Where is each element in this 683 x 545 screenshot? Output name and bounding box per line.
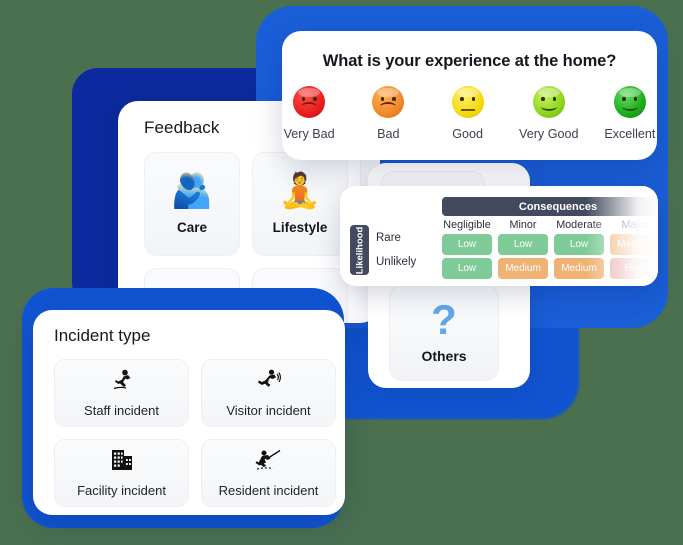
risk-matrix-cell[interactable]: Medium [498, 258, 548, 279]
incident-type-card: Incident type Staff incident [33, 310, 345, 515]
risk-matrix-cell[interactable]: Medium [554, 258, 604, 279]
others-tile-label: Others [421, 348, 466, 364]
incident-tile-staff[interactable]: Staff incident [54, 359, 189, 427]
experience-option-good[interactable]: Good [441, 86, 495, 141]
consequences-label: Consequences [519, 201, 597, 213]
person-falling-stick-icon [255, 449, 283, 475]
incident-type-grid: Staff incident Visitor incident [33, 346, 345, 507]
incident-tile-resident[interactable]: Resident incident [201, 439, 336, 507]
risk-matrix-col-header: Negligible [442, 219, 492, 231]
happy-face-icon [614, 86, 646, 118]
risk-matrix-cell[interactable]: Low [554, 234, 604, 255]
person-falling-icon [110, 369, 134, 395]
experience-survey-card: What is your experience at the home? Ver… [282, 31, 657, 160]
risk-matrix-cell[interactable]: Medium [610, 234, 658, 255]
risk-matrix-row-labels: Rare Unlikely [376, 226, 416, 274]
risk-matrix-card: Consequences Likelihood Negligible Minor… [340, 186, 658, 286]
feedback-tile-label: Care [177, 220, 207, 235]
incident-tile-label: Resident incident [219, 483, 319, 498]
sad-face-icon [372, 86, 404, 118]
risk-matrix-cell[interactable]: Low [442, 234, 492, 255]
experience-option-very-good[interactable]: Very Good [520, 86, 578, 141]
risk-matrix-col-header: Moderate [554, 219, 604, 231]
office-building-icon [110, 449, 134, 475]
feedback-tile-label: Lifestyle [273, 220, 328, 235]
risk-matrix-cell[interactable]: Low [442, 258, 492, 279]
experience-option-excellent[interactable]: Excellent [603, 86, 657, 141]
composition-stage: Feedback 🫂 Care 🧘 Lifestyle 🧹 🏢 👩 [0, 0, 683, 545]
incident-tile-label: Staff incident [84, 403, 159, 418]
person-slipping-icon [256, 369, 282, 395]
incident-type-title: Incident type [33, 310, 345, 346]
meditation-icon: 🧘 [279, 174, 321, 208]
smiling-face-icon [533, 86, 565, 118]
frowning-face-icon [293, 86, 325, 118]
incident-tile-facility[interactable]: Facility incident [54, 439, 189, 507]
experience-option-label: Good [452, 127, 483, 141]
neutral-face-icon [452, 86, 484, 118]
risk-matrix-row-label: Unlikely [376, 250, 416, 274]
others-tile[interactable]: ? Others [389, 285, 499, 381]
incident-tile-visitor[interactable]: Visitor incident [201, 359, 336, 427]
risk-matrix-cell[interactable]: High [610, 258, 658, 279]
risk-matrix-likelihood-header: Likelihood [350, 225, 369, 275]
experience-options-row: Very Bad Bad Good [282, 71, 657, 141]
risk-matrix-col-header: Major [610, 219, 658, 231]
likelihood-label: Likelihood [354, 226, 365, 274]
incident-tile-label: Facility incident [77, 483, 166, 498]
feedback-tile-lifestyle[interactable]: 🧘 Lifestyle [252, 152, 348, 256]
experience-option-label: Very Bad [284, 127, 335, 141]
question-mark-icon: ? [431, 302, 457, 338]
incident-tile-label: Visitor incident [226, 403, 310, 418]
risk-matrix-col-header: Minor [498, 219, 548, 231]
risk-matrix-consequences-header: Consequences [442, 197, 658, 216]
risk-matrix-row: Low Medium Medium High [442, 258, 658, 279]
feedback-tile-care[interactable]: 🫂 Care [144, 152, 240, 256]
experience-question: What is your experience at the home? [282, 31, 657, 71]
experience-option-label: Excellent [604, 127, 655, 141]
experience-option-bad[interactable]: Bad [361, 86, 415, 141]
risk-matrix-row-label: Rare [376, 226, 416, 250]
risk-matrix-row: Low Low Low Medium [442, 234, 658, 255]
heart-in-hands-icon: 🫂 [171, 174, 213, 208]
risk-matrix-column-headers: Negligible Minor Moderate Major [442, 219, 658, 231]
experience-option-very-bad[interactable]: Very Bad [282, 86, 336, 141]
risk-matrix-cells: Low Low Low Medium Low Medium Medium Hig… [442, 234, 658, 282]
risk-matrix-cell[interactable]: Low [498, 234, 548, 255]
experience-option-label: Bad [377, 127, 399, 141]
experience-option-label: Very Good [519, 127, 579, 141]
